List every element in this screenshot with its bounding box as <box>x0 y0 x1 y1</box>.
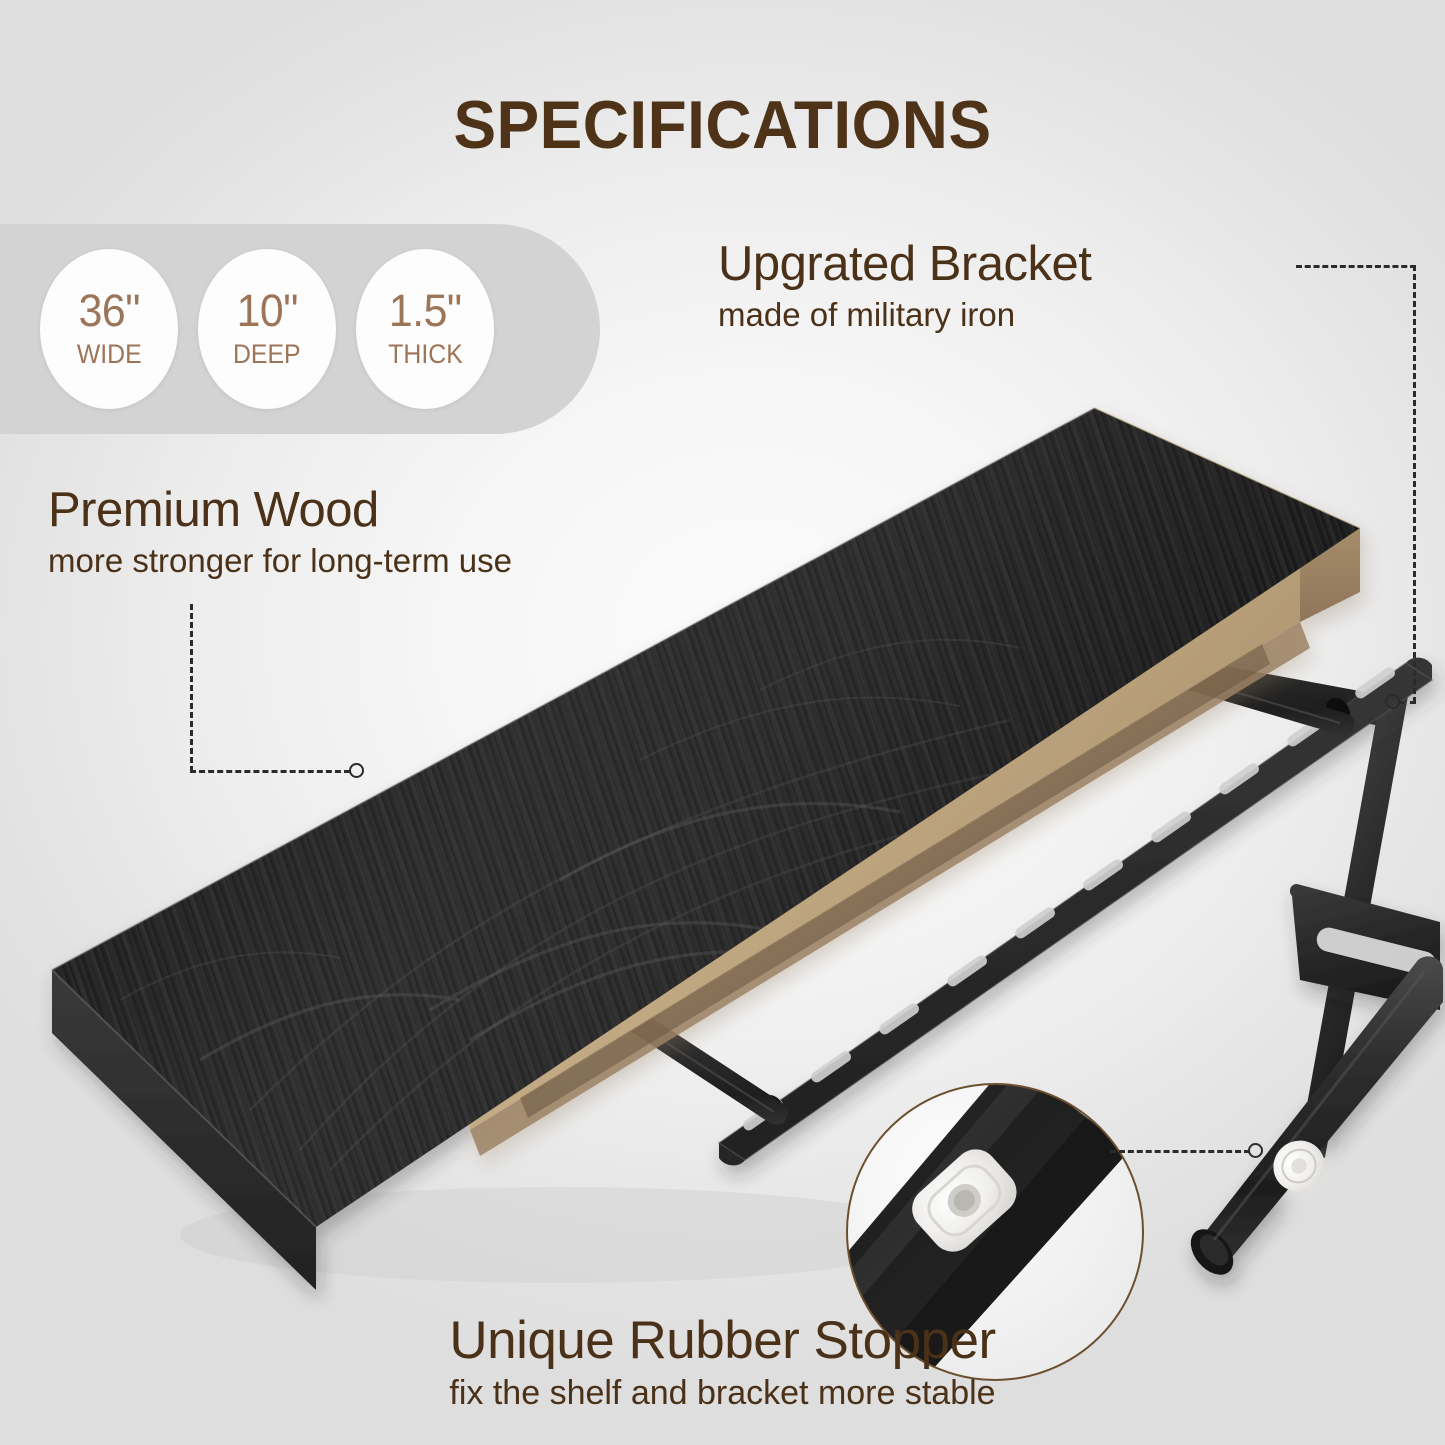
spec-badge-value: 1.5" <box>389 288 462 333</box>
callout-wood-heading: Premium Wood <box>48 484 512 537</box>
spec-badge-label: THICK <box>388 338 463 370</box>
spec-badge-wide: 36" WIDE <box>40 249 178 409</box>
specs-panel: 36" WIDE 10" DEEP 1.5" THICK <box>0 224 600 434</box>
product-illustration <box>0 0 1445 1445</box>
callout-wood-subtext: more stronger for long-term use <box>48 541 512 581</box>
callout-stopper-subtext: fix the shelf and bracket more stable <box>0 1373 1445 1414</box>
callout-stopper-heading: Unique Rubber Stopper <box>0 1312 1445 1369</box>
bracket-secondary <box>1182 884 1445 1303</box>
spec-badge-value: 36" <box>78 288 139 333</box>
spec-badge-value: 10" <box>236 288 297 333</box>
callout-wood: Premium Wood more stronger for long-term… <box>48 484 512 581</box>
spec-badge-label: WIDE <box>77 338 142 370</box>
callout-bracket: Upgrated Bracket made of military iron <box>718 238 1091 335</box>
callout-stopper: Unique Rubber Stopper fix the shelf and … <box>0 1312 1445 1414</box>
callout-bracket-heading: Upgrated Bracket <box>718 238 1091 291</box>
callout-bracket-subtext: made of military iron <box>718 295 1091 335</box>
spec-badge-thick: 1.5" THICK <box>356 249 494 409</box>
spec-badge-label: DEEP <box>233 338 301 370</box>
spec-badge-deep: 10" DEEP <box>198 249 336 409</box>
product-spec-infographic: SPECIFICATIONS 36" WIDE 10" DEEP 1.5" TH… <box>0 0 1445 1445</box>
page-title: SPECIFICATIONS <box>43 86 1401 164</box>
